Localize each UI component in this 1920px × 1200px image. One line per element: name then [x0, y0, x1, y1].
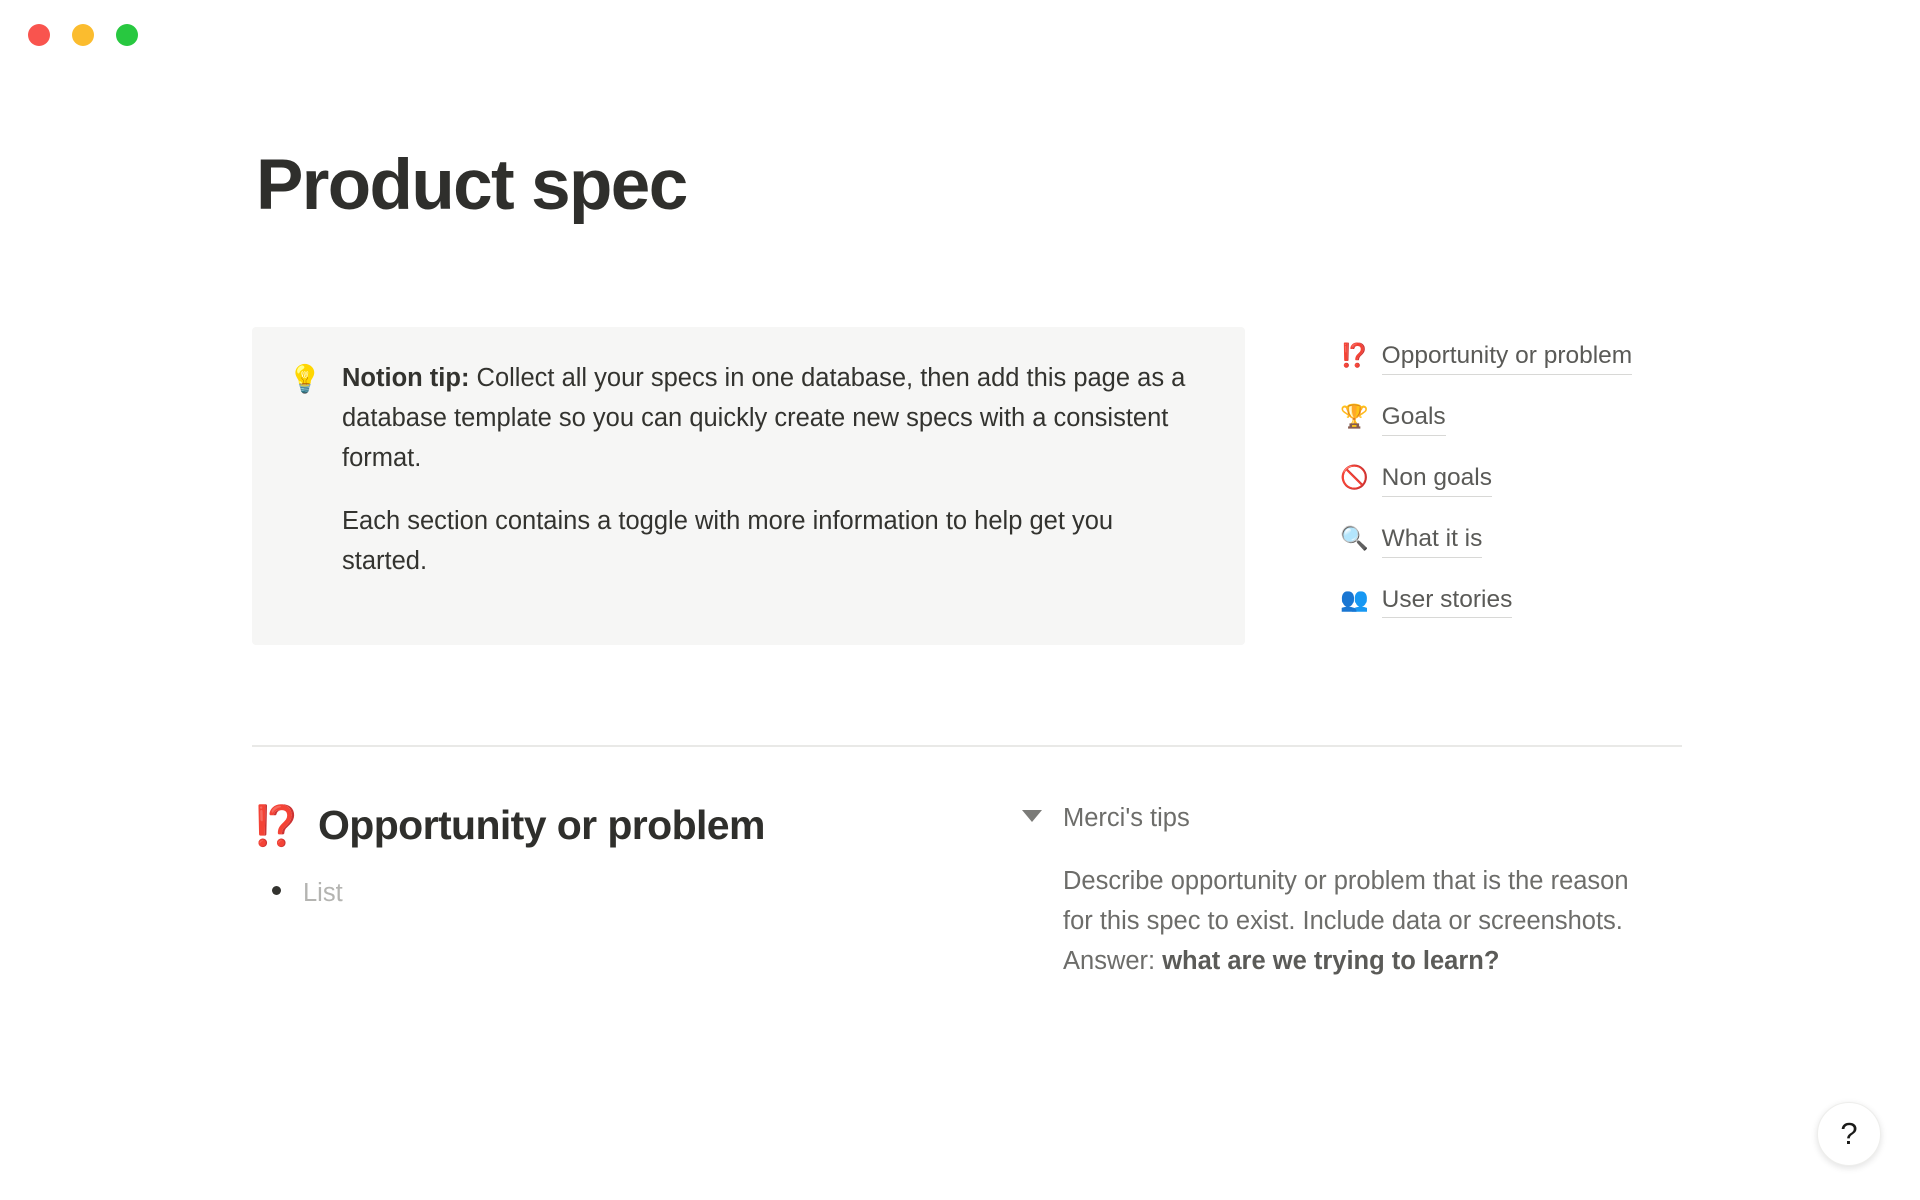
callout-bold-lead: Notion tip: — [342, 364, 469, 392]
callout-paragraph-1-rest: Collect all your specs in one database, … — [342, 364, 1185, 472]
table-of-contents: ⁉️ Opportunity or problem 🏆 Goals 🚫 Non … — [1340, 341, 1685, 618]
toc-item-label: Goals — [1382, 402, 1446, 436]
section-divider — [252, 745, 1682, 747]
callout-body: Notion tip: Collect all your specs in on… — [342, 359, 1205, 611]
prohibited-icon: 🚫 — [1340, 466, 1369, 489]
list-item-text: List — [303, 874, 343, 912]
notion-tip-callout[interactable]: 💡 Notion tip: Collect all your specs in … — [252, 327, 1245, 645]
tips-toggle-content: Describe opportunity or problem that is … — [1063, 862, 1663, 981]
section-right-column: Merci's tips Describe opportunity or pro… — [1022, 800, 1642, 981]
callout-paragraph-2: Each section contains a toggle with more… — [342, 502, 1205, 582]
tips-body-bold: what are we trying to learn? — [1162, 947, 1499, 975]
toc-item-opportunity-or-problem[interactable]: ⁉️ Opportunity or problem — [1340, 341, 1685, 375]
chevron-down-icon[interactable] — [1022, 810, 1042, 822]
toc-item-label: User stories — [1382, 585, 1513, 619]
users-icon: 👥 — [1340, 588, 1369, 611]
intro-band: 💡 Notion tip: Collect all your specs in … — [252, 327, 1682, 647]
section-left-column: ⁉️ Opportunity or problem List — [252, 800, 952, 912]
bulleted-list: List — [252, 874, 952, 912]
section-heading-label: Opportunity or problem — [318, 800, 765, 850]
toc-item-label: Non goals — [1382, 463, 1492, 497]
lightbulb-icon: 💡 — [288, 359, 320, 611]
tips-toggle-header[interactable]: Merci's tips — [1022, 800, 1642, 837]
toc-item-label: Opportunity or problem — [1382, 341, 1633, 375]
exclamation-question-icon: ⁉️ — [252, 807, 300, 846]
toc-item-goals[interactable]: 🏆 Goals — [1340, 402, 1685, 436]
magnifier-icon: 🔍 — [1340, 527, 1369, 550]
toc-item-label: What it is — [1382, 524, 1483, 558]
document-page: Product spec 💡 Notion tip: Collect all y… — [0, 0, 1920, 1200]
bullet-icon — [272, 886, 281, 895]
list-item[interactable]: List — [272, 874, 952, 912]
help-button[interactable]: ? — [1817, 1102, 1881, 1166]
section-heading[interactable]: ⁉️ Opportunity or problem — [252, 800, 952, 850]
tips-toggle-title: Merci's tips — [1063, 800, 1190, 837]
toc-item-what-it-is[interactable]: 🔍 What it is — [1340, 524, 1685, 558]
toc-item-user-stories[interactable]: 👥 User stories — [1340, 585, 1685, 619]
toc-item-non-goals[interactable]: 🚫 Non goals — [1340, 463, 1685, 497]
trophy-icon: 🏆 — [1340, 405, 1369, 428]
callout-paragraph-1: Notion tip: Collect all your specs in on… — [342, 359, 1205, 478]
page-title[interactable]: Product spec — [256, 148, 687, 225]
exclamation-question-icon: ⁉️ — [1340, 344, 1369, 367]
